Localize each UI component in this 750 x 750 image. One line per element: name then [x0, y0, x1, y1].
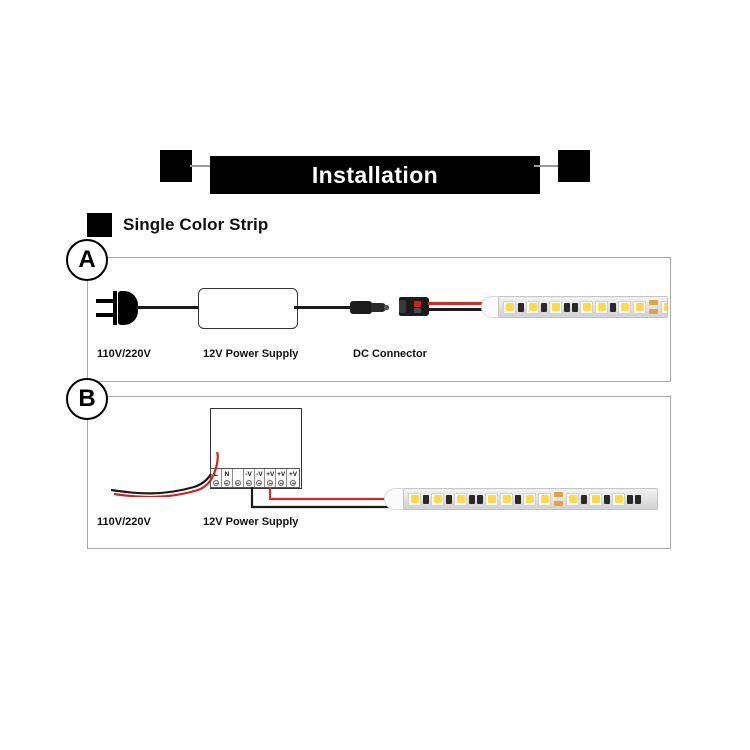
resistor: [469, 495, 475, 504]
terminal-screw-icon: [235, 480, 241, 486]
wire-dc-negative-a: [428, 308, 488, 311]
banner-connector-rule-right: [534, 165, 560, 167]
wiring-diagram-panel-b: B L N -V -V: [87, 396, 671, 549]
installation-diagram: Installation Single Color Strip A: [0, 0, 750, 750]
led-chip: [580, 301, 593, 314]
caption-power-supply-b: 12V Power Supply: [203, 516, 298, 528]
wire-adapter-to-dc-plug: [294, 306, 352, 309]
plug-prong-top: [96, 299, 113, 303]
led-chip: [454, 493, 467, 506]
caption-mains-voltage-a: 110V/220V: [97, 348, 151, 360]
led-strip-a: [498, 296, 668, 318]
resistor: [446, 495, 452, 504]
led-chip: [618, 301, 631, 314]
led-chip: [633, 301, 646, 314]
cut-mark-pads: [553, 492, 564, 506]
page-title: Installation: [312, 162, 438, 189]
led-chip: [485, 493, 498, 506]
dc-female-screw-positive: [414, 301, 421, 307]
caption-power-supply-a: 12V Power Supply: [203, 348, 298, 360]
cut-mark-pads: [648, 300, 659, 314]
led-chip: [566, 493, 579, 506]
banner-end-cap-left: [160, 150, 192, 182]
wire-ac-live-b: [114, 452, 218, 497]
led-chip: [431, 493, 444, 506]
adapter-brick-12v: [198, 288, 298, 329]
section-heading-label: Single Color Strip: [123, 215, 268, 235]
banner-bar: Installation: [210, 156, 540, 194]
led-chip: [503, 301, 516, 314]
wiring-diagram-panel-a: A: [87, 257, 671, 382]
led-chip: [612, 493, 625, 506]
resistor: [610, 303, 616, 312]
caption-mains-voltage-b: 110V/220V: [97, 516, 151, 528]
dc-barrel-plug-male: [350, 298, 392, 318]
led-chip: [526, 301, 539, 314]
plug-prong-bottom: [96, 313, 113, 317]
plug-body: [118, 291, 138, 325]
led-chip: [661, 301, 668, 314]
led-chip: [595, 301, 608, 314]
resistor: [564, 303, 570, 312]
panel-badge-b: B: [66, 378, 108, 420]
resistor: [627, 495, 633, 504]
resistor: [423, 495, 429, 504]
bullet-square-icon: [87, 213, 112, 237]
banner-end-cap-right: [558, 150, 590, 182]
installation-banner: Installation: [160, 150, 590, 194]
section-heading: Single Color Strip: [87, 213, 268, 237]
led-chip: [408, 493, 421, 506]
led-chip: [589, 493, 602, 506]
panel-badge-a: A: [66, 239, 108, 281]
resistor: [572, 303, 578, 312]
resistor: [635, 495, 641, 504]
resistor: [541, 303, 547, 312]
led-chip: [500, 493, 513, 506]
resistor: [604, 495, 610, 504]
ac-input-leads: [108, 452, 228, 497]
wire-dc-positive-a: [428, 302, 488, 305]
dc-plug-grip: [350, 301, 372, 314]
resistor: [477, 495, 483, 504]
dc-female-screw-negative: [414, 308, 421, 313]
caption-dc-connector-a: DC Connector: [353, 348, 427, 360]
resistor: [581, 495, 587, 504]
resistor: [515, 495, 521, 504]
led-chip: [538, 493, 551, 506]
wire-mains-to-adapter: [136, 306, 200, 309]
led-chip: [549, 301, 562, 314]
dc-plug-tip: [384, 305, 389, 310]
plug-face-plate: [113, 291, 117, 325]
led-strip-b: [403, 488, 658, 510]
dc-female-collar: [399, 300, 406, 313]
resistor: [518, 303, 524, 312]
dc-screw-terminal-female: [399, 297, 431, 317]
terminal-ground[interactable]: [233, 469, 244, 487]
led-chip: [523, 493, 536, 506]
